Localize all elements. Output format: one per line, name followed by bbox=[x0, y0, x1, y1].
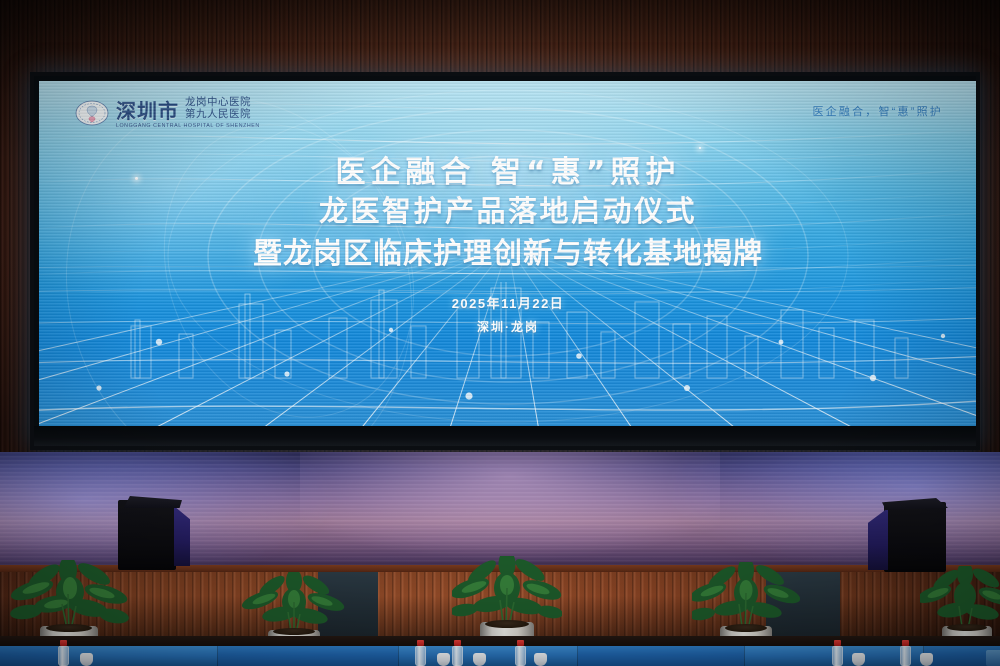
plant-soil bbox=[273, 628, 315, 635]
sparkle bbox=[699, 147, 701, 149]
bottle-body bbox=[58, 646, 69, 666]
bottle-body bbox=[900, 646, 911, 666]
logo-dept-line-2: 第九人民医院 bbox=[185, 109, 251, 120]
water-glass bbox=[986, 650, 1000, 666]
paper-cup bbox=[80, 653, 93, 666]
paper-cup bbox=[920, 653, 933, 666]
water-bottle bbox=[415, 640, 427, 666]
bottle-body bbox=[452, 646, 463, 666]
event-date: 2025年11月22日 bbox=[39, 293, 977, 312]
paper-cup bbox=[473, 653, 486, 666]
event-title-block: 医企融合 智“惠”照护 龙医智护产品落地启动仪式 暨龙岗区临床护理创新与转化基地… bbox=[39, 155, 977, 274]
corner-slogan: 医企融合，智“惠”照护 bbox=[812, 103, 943, 119]
plant-soil bbox=[485, 620, 529, 628]
event-title-line-2: 龙医智护产品落地启动仪式 bbox=[39, 190, 977, 232]
paper-cup bbox=[437, 653, 450, 666]
plant-soil bbox=[46, 624, 92, 632]
led-screen-content: 深圳市 龙岗中心医院 第九人民医院 LONGGANG CENTRAL HOSPI… bbox=[39, 81, 977, 431]
stage-monitor-right bbox=[868, 498, 950, 572]
water-bottle bbox=[832, 640, 844, 666]
logo-city-name: 深圳市 bbox=[116, 101, 179, 121]
screen-bottom-bezel bbox=[34, 426, 980, 446]
water-bottle bbox=[900, 640, 912, 666]
logo-dept-line-1: 龙岗中心医院 bbox=[185, 97, 251, 108]
paper-cup bbox=[534, 653, 547, 666]
water-bottle bbox=[515, 640, 527, 666]
plant-soil bbox=[725, 624, 767, 632]
event-meta-block: 2025年11月22日 深圳·龙岗 bbox=[39, 293, 977, 335]
bottle-body bbox=[415, 646, 426, 666]
bottle-body bbox=[515, 646, 526, 666]
paper-cup bbox=[852, 653, 865, 666]
event-title-line-3: 暨龙岗区临床护理创新与转化基地揭牌 bbox=[39, 232, 977, 274]
event-location: 深圳·龙岗 bbox=[39, 318, 977, 335]
stage-monitor-left bbox=[118, 492, 196, 570]
plant-soil bbox=[947, 624, 987, 631]
logo-english-name: LONGGANG CENTRAL HOSPITAL OF SHENZHEN bbox=[116, 123, 260, 129]
event-title-line-1: 医企融合 智“惠”照护 bbox=[39, 155, 977, 190]
led-screen: 深圳市 龙岗中心医院 第九人民医院 LONGGANG CENTRAL HOSPI… bbox=[30, 72, 980, 450]
water-bottle bbox=[58, 640, 70, 666]
water-bottle bbox=[452, 640, 464, 666]
conference-stage-scene: 深圳市 龙岗中心医院 第九人民医院 LONGGANG CENTRAL HOSPI… bbox=[0, 0, 1000, 666]
hospital-emblem-icon bbox=[75, 100, 109, 126]
bottle-body bbox=[832, 646, 843, 666]
hospital-logo: 深圳市 龙岗中心医院 第九人民医院 LONGGANG CENTRAL HOSPI… bbox=[75, 97, 257, 129]
